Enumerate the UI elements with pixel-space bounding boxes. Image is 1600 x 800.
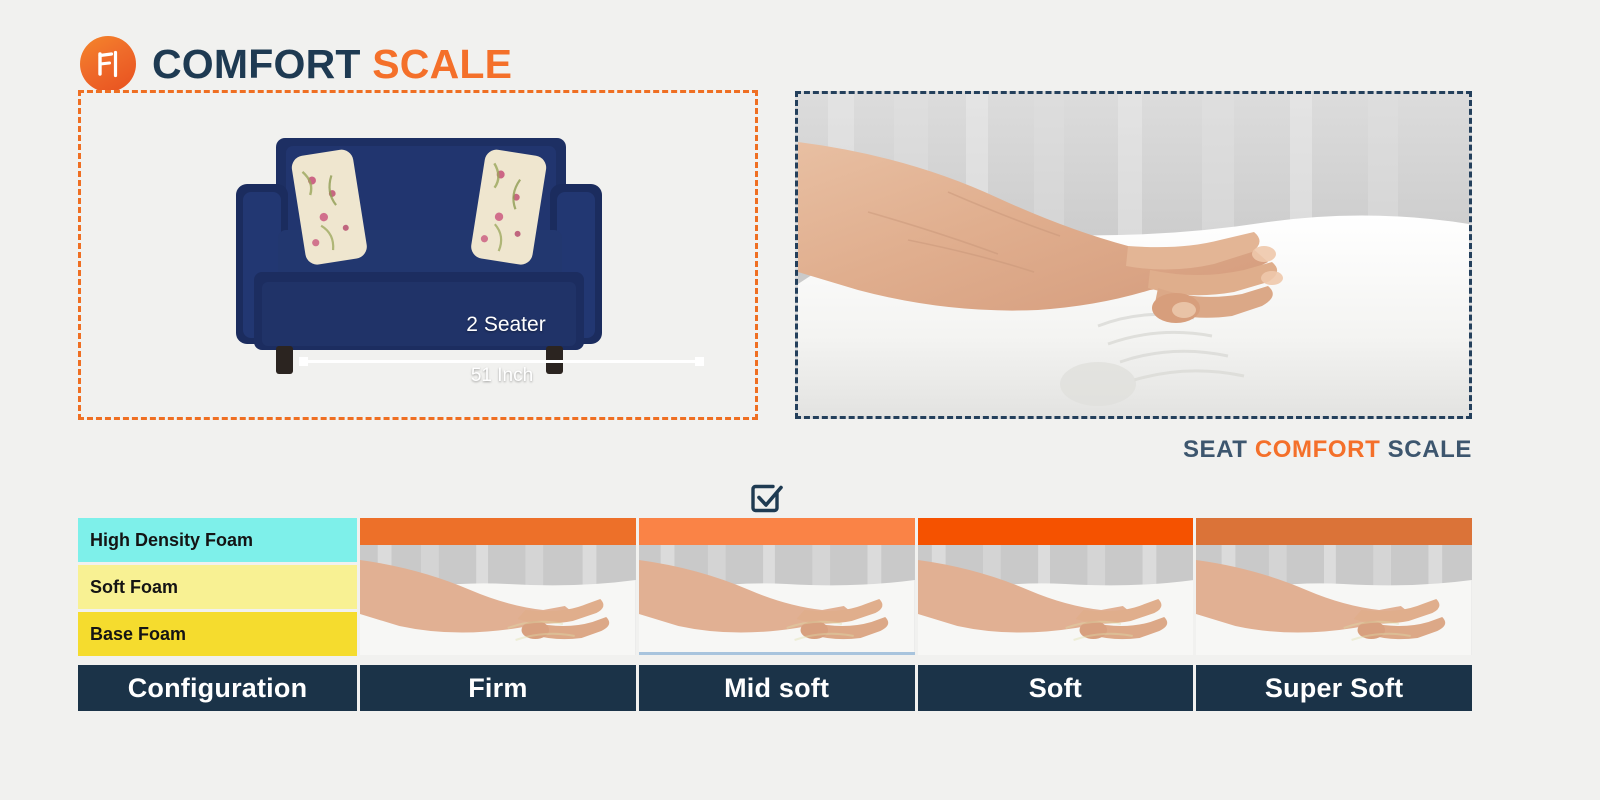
configuration-label-text: Configuration — [128, 673, 308, 704]
page-header: COMFORT SCALE — [80, 36, 512, 92]
comfort-option-column-super-soft[interactable] — [1196, 518, 1472, 656]
comfort-option-label-text: Soft — [1029, 673, 1082, 704]
width-dimension-label: 51 Inch — [471, 365, 533, 387]
configuration-header-label: Configuration — [78, 665, 357, 711]
comfort-option-column-firm[interactable] — [360, 518, 636, 656]
selected-option-checkbox-icon[interactable] — [747, 477, 785, 515]
comfort-option-cell[interactable] — [918, 518, 1194, 655]
foam-layers-column: High Density Foam Soft Foam Base Foam — [78, 518, 357, 656]
hand-on-memory-foam-photo — [798, 94, 1469, 416]
comfort-option-label-text: Firm — [468, 673, 527, 704]
comfort-option-column-soft[interactable] — [918, 518, 1194, 656]
scale-labels-row: Configuration Firm Mid soft Soft Super S… — [78, 665, 1472, 711]
comfort-option-label-mid-soft[interactable]: Mid soft — [639, 665, 915, 711]
comfort-option-label-super-soft[interactable]: Super Soft — [1196, 665, 1472, 711]
scale-body-row: High Density Foam Soft Foam Base Foam — [78, 518, 1472, 656]
page-title: COMFORT SCALE — [152, 44, 512, 85]
foam-layer-row: Soft Foam — [78, 565, 357, 609]
comfort-scale-table: High Density Foam Soft Foam Base Foam — [78, 518, 1472, 711]
dimension-bar — [305, 360, 698, 363]
comfort-option-column-mid-soft[interactable] — [639, 518, 915, 656]
foam-layer-row: High Density Foam — [78, 518, 357, 562]
caption-part-seat: SEAT — [1183, 436, 1248, 463]
comfort-option-cell[interactable] — [639, 518, 915, 655]
foam-layer-label: Soft Foam — [90, 577, 178, 598]
comfort-scale-infographic: COMFORT SCALE — [0, 0, 1600, 800]
comfort-band — [1196, 518, 1472, 545]
seater-count-label: 2 Seater — [466, 313, 545, 337]
caption-part-scale: SCALE — [1388, 436, 1472, 463]
comfort-option-label-firm[interactable]: Firm — [360, 665, 636, 711]
comfort-option-cell[interactable] — [360, 518, 636, 655]
comfort-option-cell[interactable] — [1196, 518, 1472, 655]
page-title-accent: SCALE — [372, 41, 512, 87]
foam-layer-row: Base Foam — [78, 612, 357, 656]
dimension-cap-right — [695, 357, 704, 366]
foam-comfort-panel — [795, 91, 1472, 419]
comfort-option-label-text: Mid soft — [724, 673, 829, 704]
sofa-dimension-panel: 2 Seater 51 Inch — [78, 90, 758, 420]
seat-comfort-scale-caption: SEAT COMFORT SCALE — [1183, 436, 1472, 464]
foam-layer-label: Base Foam — [90, 624, 186, 645]
comfort-band — [639, 518, 915, 545]
width-dimension-line — [299, 357, 704, 365]
comfort-option-label-soft[interactable]: Soft — [918, 665, 1194, 711]
foam-layer-label: High Density Foam — [90, 530, 253, 551]
comfort-option-label-text: Super Soft — [1265, 673, 1404, 704]
comfort-band — [918, 518, 1194, 545]
page-title-primary: COMFORT — [152, 41, 361, 87]
sofa-graphic-icon — [158, 120, 678, 390]
sofa-illustration: 2 Seater 51 Inch — [81, 93, 755, 417]
caption-part-comfort: COMFORT — [1255, 436, 1381, 463]
furniture-brand-logo-icon — [80, 36, 136, 92]
comfort-band — [360, 518, 636, 545]
